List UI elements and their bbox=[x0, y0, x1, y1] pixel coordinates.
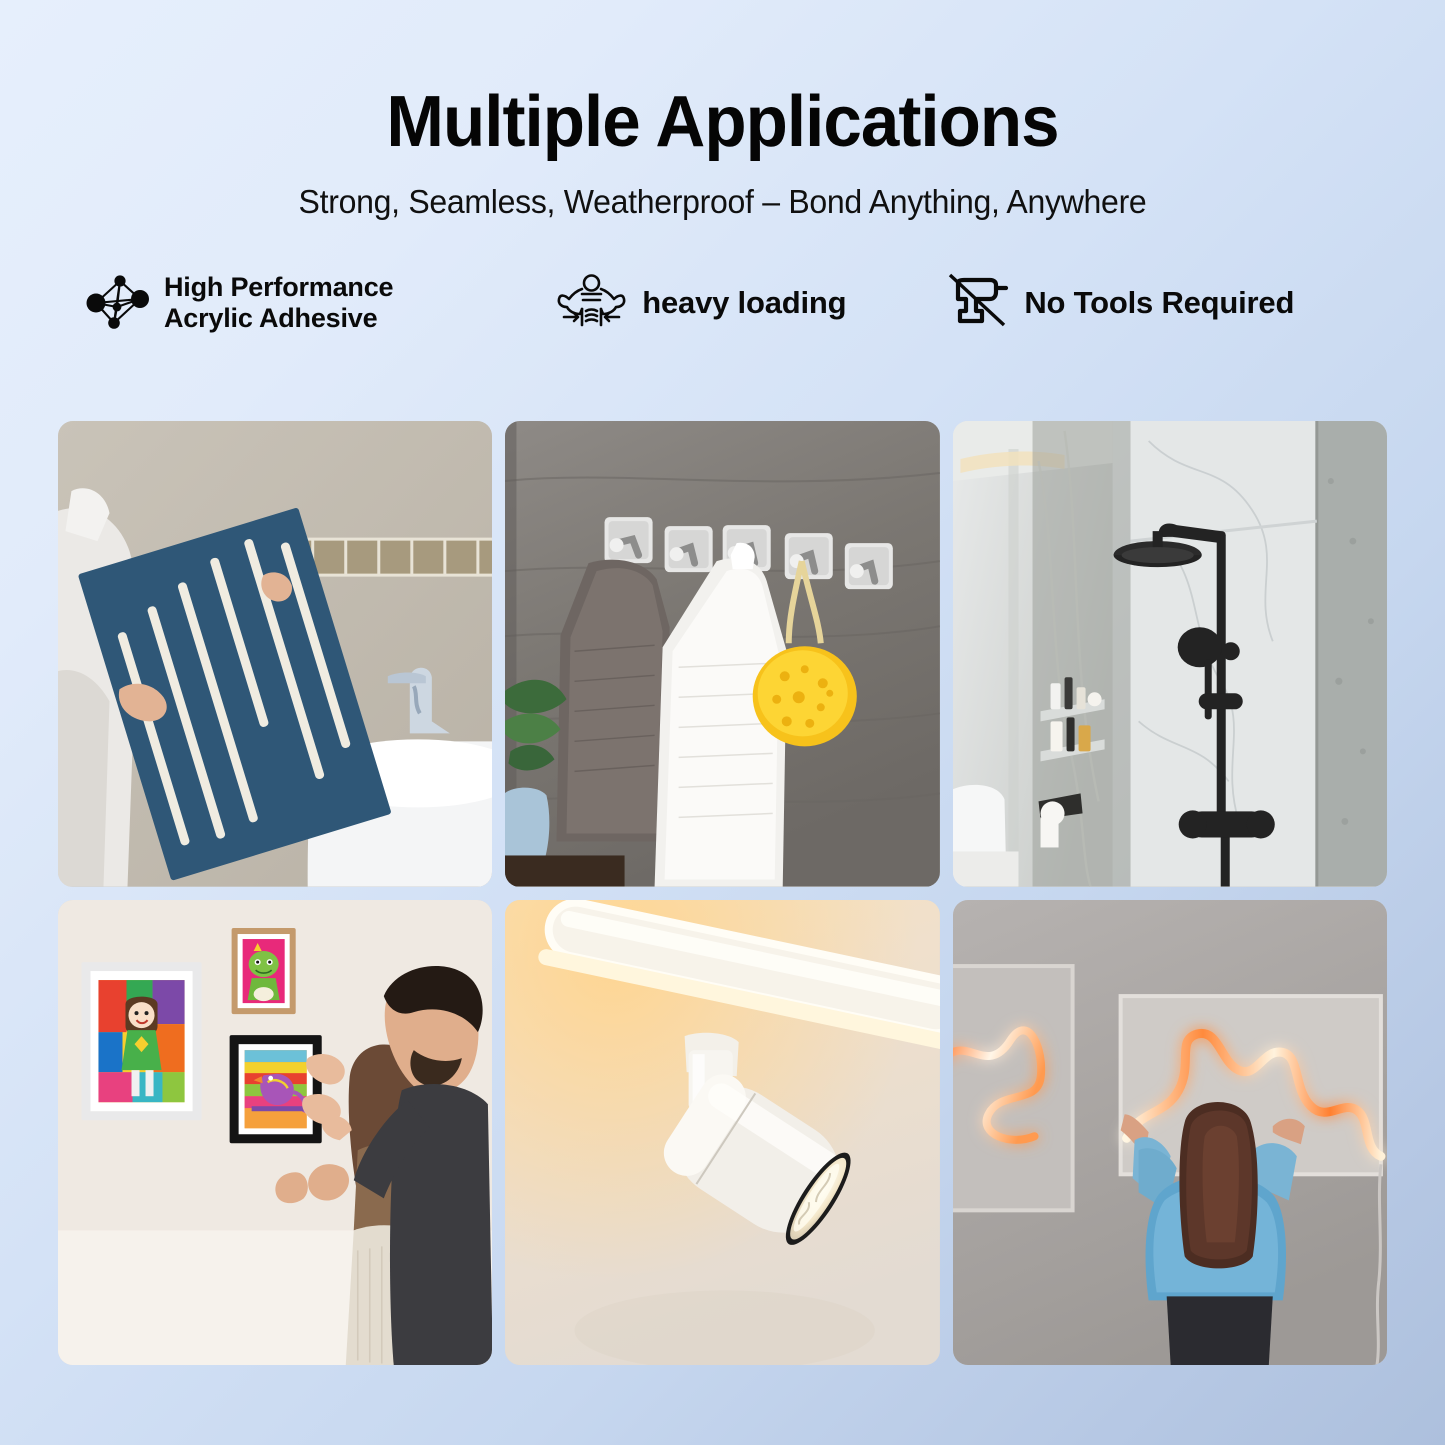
page-header: Multiple Applications Strong, Seamless, … bbox=[0, 0, 1445, 221]
feature-badge-heavy-loading: heavy loading bbox=[502, 269, 943, 336]
feature-badge-high-performance: High Performance Acrylic Adhesive bbox=[62, 269, 502, 336]
feature-badge-label: heavy loading bbox=[642, 285, 846, 321]
gallery-cell-hanging-kids-artwork[interactable] bbox=[58, 900, 492, 1366]
gallery-cell-adhesive-towel-hooks[interactable] bbox=[505, 421, 939, 887]
application-photo-grid bbox=[58, 421, 1387, 1365]
feature-badge-no-tools: No Tools Required bbox=[943, 269, 1383, 336]
page-subtitle: Strong, Seamless, Weatherproof – Bond An… bbox=[22, 183, 1424, 221]
gallery-cell-marble-shower-fixture[interactable] bbox=[953, 421, 1387, 887]
flexing-muscle-icon bbox=[554, 269, 628, 336]
gallery-cell-ceiling-track-spotlight[interactable] bbox=[505, 900, 939, 1366]
page-title: Multiple Applications bbox=[29, 86, 1416, 159]
feature-badge-row: High Performance Acrylic Adhesive bbox=[62, 269, 1383, 336]
gallery-cell-bathroom-panel-install[interactable] bbox=[58, 421, 492, 887]
gallery-cell-neon-led-strip-wall-art[interactable] bbox=[953, 900, 1387, 1366]
feature-badge-label: High Performance Acrylic Adhesive bbox=[164, 272, 393, 335]
molecule-network-icon bbox=[84, 269, 150, 336]
no-drill-icon bbox=[944, 269, 1010, 336]
feature-badge-label: No Tools Required bbox=[1024, 285, 1294, 321]
